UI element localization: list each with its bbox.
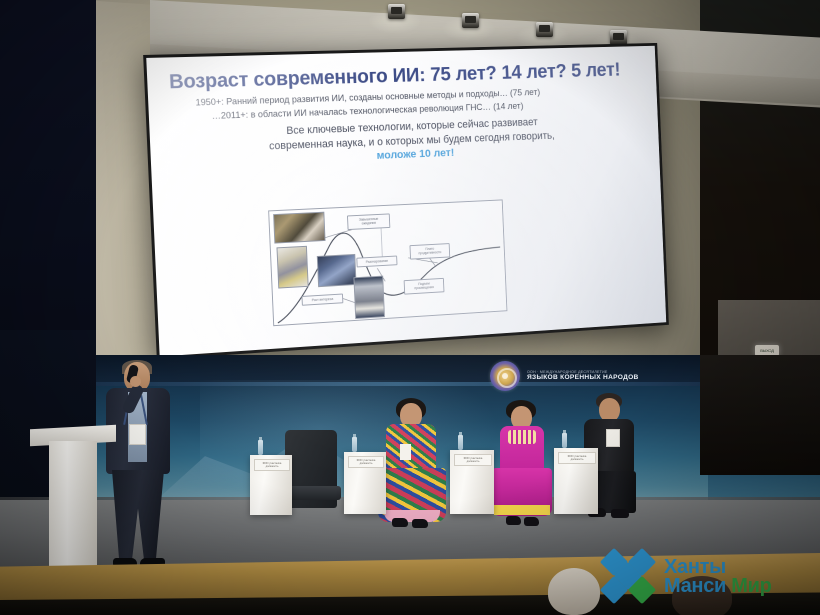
screenshot-root: ВЫХОД Возраст современного ИИ: 75 лет? 1… <box>0 0 820 615</box>
water-bottle <box>562 433 567 448</box>
backdrop-logo-title: ЯЗЫКОВ КОРЕННЫХ НАРОДОВ <box>527 374 639 382</box>
projection-screen: Возраст современного ИИ: 75 лет? 14 лет?… <box>150 55 710 360</box>
slide-content: Возраст современного ИИ: 75 лет? 14 лет?… <box>146 46 666 357</box>
screen-surface: Возраст современного ИИ: 75 лет? 14 лет?… <box>146 46 666 357</box>
panelist-2 <box>490 400 552 530</box>
indigenous-languages-emblem-icon <box>490 361 520 391</box>
backdrop-logo: ООН · МЕЖДУНАРОДНОЕ ДЕСЯТИЛЕТИЕ ЯЗЫКОВ К… <box>490 360 680 392</box>
panel-nameplate: ФИО участника должность <box>348 456 384 468</box>
panelist-1 <box>378 398 446 530</box>
panel-nameplate: ФИО участника должность <box>454 454 492 466</box>
ceiling-spotlight-icon <box>388 4 405 19</box>
screen-frame: Возраст современного ИИ: 75 лет? 14 лет?… <box>143 43 669 360</box>
backdrop-logo-subtitle: ООН · МЕЖДУНАРОДНОЕ ДЕСЯТИЛЕТИЕ <box>527 370 639 374</box>
diagram-thumb-blue-scene <box>317 254 357 287</box>
watermark-line-2-green: Мир <box>731 575 771 597</box>
ceiling-spotlight-icon <box>462 13 479 28</box>
panel-nameplate-text: ФИО участника должность <box>464 457 483 463</box>
audience-head <box>548 568 600 615</box>
backdrop-logo-text: ООН · МЕЖДУНАРОДНОЕ ДЕСЯТИЛЕТИЕ ЯЗЫКОВ К… <box>527 370 639 382</box>
diagram-thumb-droids <box>276 246 308 289</box>
panel-nameplate: ФИО участника должность <box>558 452 596 464</box>
panel-nameplate-text: ФИО участника должность <box>357 459 376 465</box>
watermark-text: Ханты Манси Мир <box>664 556 772 597</box>
panel-nameplate: ФИО участника должность <box>254 459 290 471</box>
left-dark-curtain-wall <box>0 0 96 372</box>
diagram-thumb-magazine <box>353 276 385 319</box>
diagram-label-slope: Подъем просвещения <box>404 278 445 294</box>
right-stage-curtain <box>700 355 820 475</box>
diagram-label-plateau: Плато продуктивности <box>409 243 450 259</box>
ceiling-spotlight-icon <box>536 22 553 37</box>
diagram-thumb-film-still <box>273 212 325 244</box>
hype-cycle-diagram: Завышенные ожидания Разочарование Плато … <box>268 199 507 326</box>
podium-column <box>49 441 97 571</box>
diagram-label-peak: Завышенные ожидания <box>347 213 390 229</box>
speaker-badge <box>129 424 146 445</box>
watermark: Ханты Манси Мир <box>601 545 816 607</box>
water-bottle <box>258 440 263 455</box>
water-bottle <box>352 437 357 452</box>
exit-sign-label: ВЫХОД <box>760 348 773 353</box>
watermark-line-2: Манси Мир <box>664 577 772 596</box>
panel-nameplate-text: ФИО участника должность <box>263 462 282 468</box>
watermark-line-2-blue: Манси <box>664 575 731 597</box>
hanty-mansi-mir-logo-icon <box>601 549 657 603</box>
water-bottle <box>458 435 463 450</box>
panel-nameplate-text: ФИО участника должность <box>568 455 587 461</box>
